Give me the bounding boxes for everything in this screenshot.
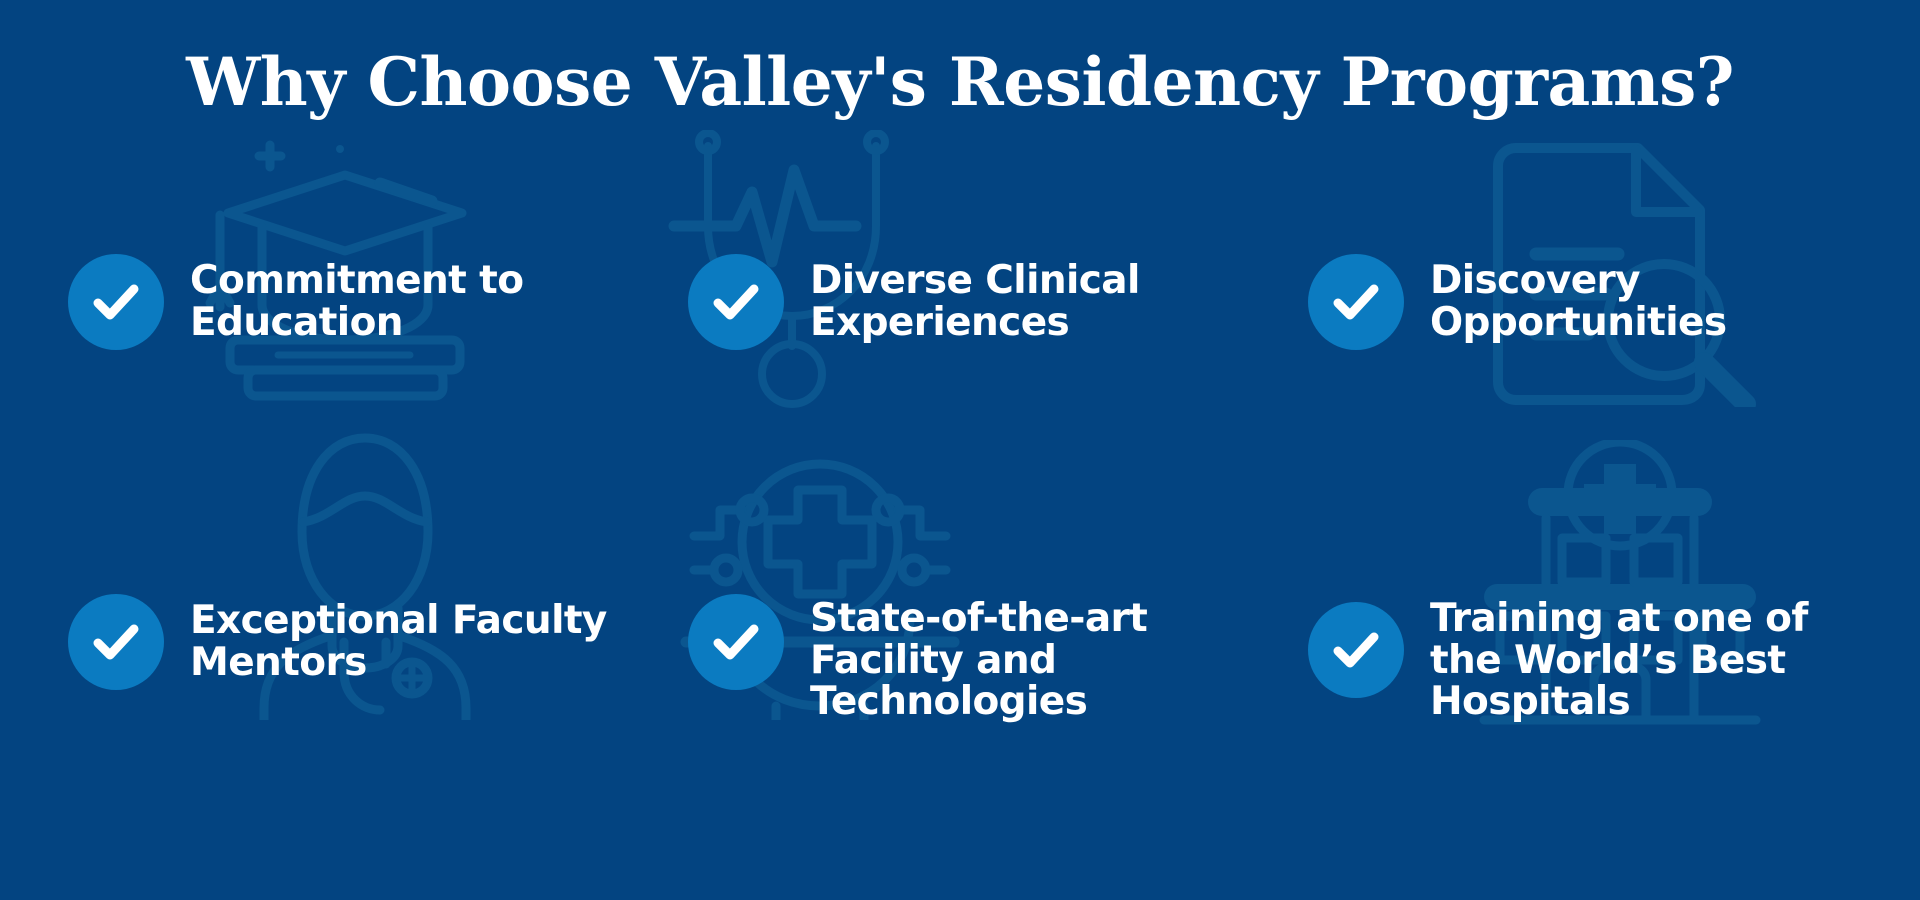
feature-label: Training at one of the World’s Best Hosp… (1430, 590, 1870, 723)
check-circle-icon (1308, 602, 1404, 698)
feature-item-commitment-to-education[interactable]: Commitment to Education (68, 250, 688, 590)
feature-item-training-best-hospitals[interactable]: Training at one of the World’s Best Hosp… (1308, 590, 1920, 900)
feature-label: Exceptional Faculty Mentors (190, 590, 630, 683)
check-circle-icon (68, 594, 164, 690)
feature-label: Discovery Opportunities (1430, 250, 1870, 343)
page-title: Why Choose Valley's Residency Programs? (0, 48, 1920, 117)
feature-item-discovery-opportunities[interactable]: Discovery Opportunities (1308, 250, 1920, 590)
check-circle-icon (688, 254, 784, 350)
feature-label: Commitment to Education (190, 250, 630, 343)
feature-grid: Commitment to Education Diverse Clinical… (0, 250, 1920, 900)
check-circle-icon (68, 254, 164, 350)
check-circle-icon (688, 594, 784, 690)
feature-item-state-of-the-art-facility[interactable]: State-of-the-art Facility and Technologi… (688, 590, 1308, 900)
check-circle-icon (1308, 254, 1404, 350)
feature-label: Diverse Clinical Experiences (810, 250, 1250, 343)
feature-label: State-of-the-art Facility and Technologi… (810, 590, 1250, 723)
infographic-banner: Why Choose Valley's Residency Programs? … (0, 0, 1920, 900)
feature-item-diverse-clinical-experiences[interactable]: Diverse Clinical Experiences (688, 250, 1308, 590)
feature-item-exceptional-faculty-mentors[interactable]: Exceptional Faculty Mentors (68, 590, 688, 900)
